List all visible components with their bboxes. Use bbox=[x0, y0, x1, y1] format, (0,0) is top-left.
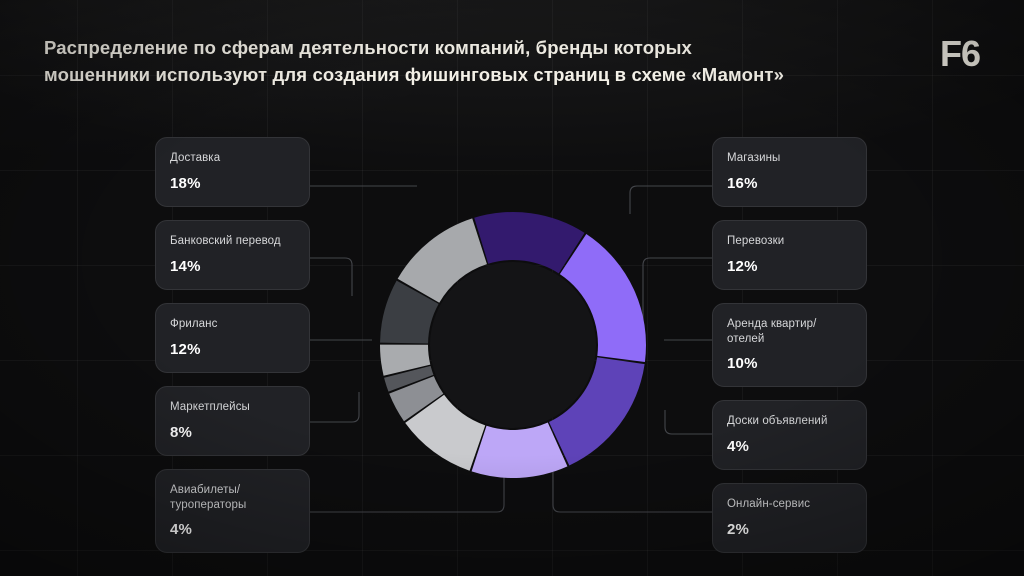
label-value: 12% bbox=[727, 258, 852, 275]
label-card-aviabilety-turoperatory[interactable]: Авиабилеты/ туроператоры 4% bbox=[155, 469, 310, 553]
donut-slice[interactable] bbox=[472, 423, 568, 478]
label-value: 12% bbox=[170, 341, 295, 358]
label-category: Доски объявлений bbox=[727, 414, 852, 429]
label-card-magaziny[interactable]: Магазины 16% bbox=[712, 137, 867, 207]
label-value: 8% bbox=[170, 424, 295, 441]
label-value: 18% bbox=[170, 175, 295, 192]
label-category: Маркетплейсы bbox=[170, 400, 295, 415]
label-card-bankovskiy-perevod[interactable]: Банковский перевод 14% bbox=[155, 220, 310, 290]
label-value: 14% bbox=[170, 258, 295, 275]
label-category: Банковский перевод bbox=[170, 234, 295, 249]
label-category: Онлайн-сервис bbox=[727, 497, 852, 512]
label-category: Аренда квартир/ отелей bbox=[727, 317, 852, 346]
label-value: 10% bbox=[727, 355, 852, 372]
label-card-perevozki[interactable]: Перевозки 12% bbox=[712, 220, 867, 290]
chart-area: Доставка 18% Банковский перевод 14% Фрил… bbox=[0, 0, 1024, 576]
label-value: 4% bbox=[727, 438, 852, 455]
label-value: 4% bbox=[170, 521, 295, 538]
label-category: Фриланс bbox=[170, 317, 295, 332]
label-value: 16% bbox=[727, 175, 852, 192]
label-card-frilans[interactable]: Фриланс 12% bbox=[155, 303, 310, 373]
label-category: Перевозки bbox=[727, 234, 852, 249]
donut-chart bbox=[0, 0, 1024, 576]
label-card-arenda-kvartir-oteley[interactable]: Аренда квартир/ отелей 10% bbox=[712, 303, 867, 387]
label-card-doski-obyavleniy[interactable]: Доски объявлений 4% bbox=[712, 400, 867, 470]
label-category: Доставка bbox=[170, 151, 295, 166]
label-category: Авиабилеты/ туроператоры bbox=[170, 483, 295, 512]
label-card-dostavka[interactable]: Доставка 18% bbox=[155, 137, 310, 207]
label-category: Магазины bbox=[727, 151, 852, 166]
label-value: 2% bbox=[727, 521, 852, 538]
label-card-marketpleysy[interactable]: Маркетплейсы 8% bbox=[155, 386, 310, 456]
donut-hole bbox=[430, 262, 596, 428]
label-card-onlayn-servis[interactable]: Онлайн-сервис 2% bbox=[712, 483, 867, 553]
